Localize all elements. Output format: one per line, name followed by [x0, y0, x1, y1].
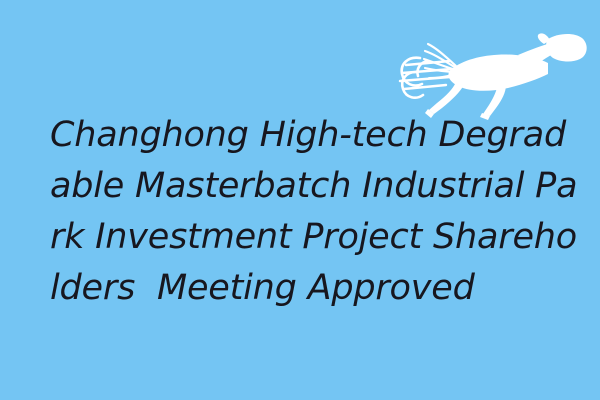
dust-swirls [402, 58, 428, 98]
banner-image: Changhong High-tech Degradable Masterbat… [0, 0, 600, 400]
horse-torso [448, 55, 548, 91]
horse-ear [538, 33, 550, 44]
horse-head [546, 34, 587, 62]
speed-lines [400, 61, 452, 89]
horse-body-group [424, 33, 587, 120]
horse-neck [518, 42, 564, 65]
horse-tail [424, 44, 457, 78]
page-title: Changhong High-tech Degradable Masterbat… [50, 110, 580, 314]
